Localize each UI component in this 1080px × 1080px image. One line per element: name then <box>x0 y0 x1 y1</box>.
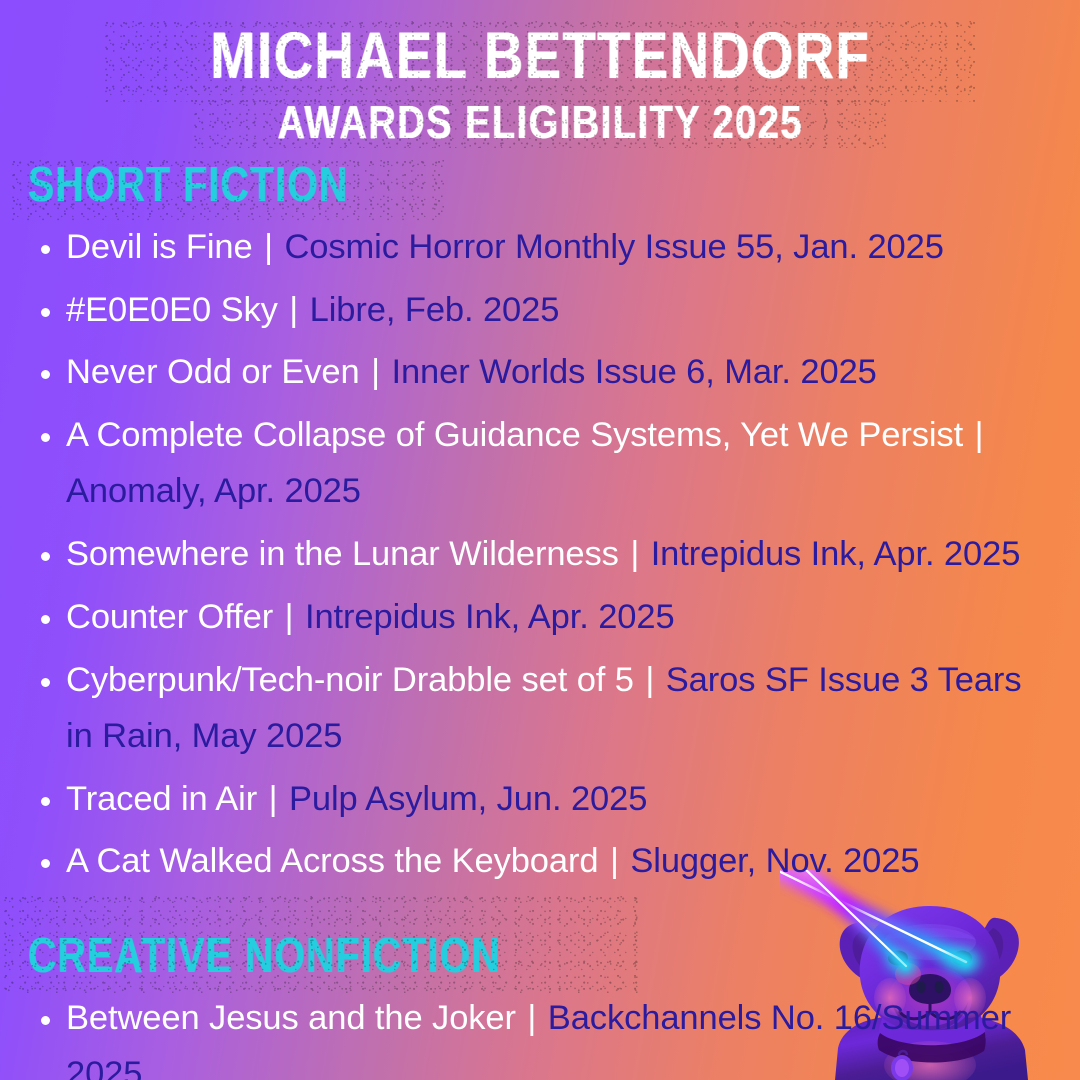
venue-credit: Intrepidus Ink, Apr. 2025 <box>305 598 675 636</box>
separator: | <box>267 780 280 818</box>
awards-eligibility-poster: Michael Bettendorf Awards Eligibility 20… <box>0 0 1080 1080</box>
separator: | <box>525 999 538 1037</box>
list-item: Counter Offer | Intrepidus Ink, Apr. 202… <box>28 590 1050 646</box>
work-title: Counter Offer <box>66 598 273 636</box>
list-item: #E0E0E0 Sky | Libre, Feb. 2025 <box>28 283 1050 339</box>
separator: | <box>628 535 641 573</box>
section-heading-creative-nonfiction-wrap: Creative Nonfiction <box>28 897 619 990</box>
venue-credit: Pulp Asylum, Jun. 2025 <box>289 780 647 818</box>
work-title: Devil is Fine <box>66 228 253 266</box>
work-title: #E0E0E0 Sky <box>66 291 278 329</box>
creative-nonfiction-list: Between Jesus and the Joker | Backchanne… <box>28 991 1050 1080</box>
separator: | <box>283 598 296 636</box>
venue-credit: Slugger, Nov. 2025 <box>630 842 919 880</box>
section-heading-short-fiction-wrap: Short Fiction <box>28 160 429 219</box>
venue-credit: Intrepidus Ink, Apr. 2025 <box>651 535 1021 573</box>
short-fiction-list: Devil is Fine | Cosmic Horror Monthly Is… <box>28 220 1050 891</box>
list-item: Somewhere in the Lunar Wilderness | Intr… <box>28 527 1050 583</box>
work-title: Cyberpunk/Tech-noir Drabble set of 5 <box>66 661 634 699</box>
list-item: Traced in Air | Pulp Asylum, Jun. 2025 <box>28 772 1050 828</box>
list-item: Cyberpunk/Tech-noir Drabble set of 5 | S… <box>28 653 1050 765</box>
venue-credit: Libre, Feb. 2025 <box>310 291 560 329</box>
work-title: A Complete Collapse of Guidance Systems,… <box>66 416 963 454</box>
content-area: Short Fiction Devil is Fine | Cosmic Hor… <box>0 146 1080 1080</box>
list-item: Never Odd or Even | Inner Worlds Issue 6… <box>28 345 1050 401</box>
separator: | <box>262 228 275 266</box>
poster-title-wrap: Michael Bettendorf <box>138 22 943 99</box>
work-title: Somewhere in the Lunar Wilderness <box>66 535 619 573</box>
page-title: Michael Bettendorf <box>210 22 870 89</box>
separator: | <box>608 842 621 880</box>
separator: | <box>369 353 382 391</box>
work-title: Traced in Air <box>66 780 257 818</box>
separator: | <box>973 416 986 454</box>
venue-credit: Inner Worlds Issue 6, Mar. 2025 <box>391 353 876 391</box>
venue-credit: Anomaly, Apr. 2025 <box>66 472 361 510</box>
section-heading-short-fiction: Short Fiction <box>28 160 348 211</box>
page-subtitle: Awards Eligibility 2025 <box>277 99 802 146</box>
work-title: Between Jesus and the Joker <box>66 999 516 1037</box>
separator: | <box>287 291 300 329</box>
title-block: Michael Bettendorf Awards Eligibility 20… <box>0 0 1080 146</box>
section-heading-creative-nonfiction: Creative Nonfiction <box>28 931 501 982</box>
venue-credit: Cosmic Horror Monthly Issue 55, Jan. 202… <box>284 228 943 266</box>
list-item: A Cat Walked Across the Keyboard | Slugg… <box>28 834 1050 890</box>
list-item: Between Jesus and the Joker | Backchanne… <box>28 991 1050 1080</box>
work-title: A Cat Walked Across the Keyboard <box>66 842 598 880</box>
separator: | <box>643 661 656 699</box>
list-item: Devil is Fine | Cosmic Horror Monthly Is… <box>28 220 1050 276</box>
list-item: A Complete Collapse of Guidance Systems,… <box>28 408 1050 520</box>
poster-subtitle-wrap: Awards Eligibility 2025 <box>220 99 861 146</box>
work-title: Never Odd or Even <box>66 353 360 391</box>
